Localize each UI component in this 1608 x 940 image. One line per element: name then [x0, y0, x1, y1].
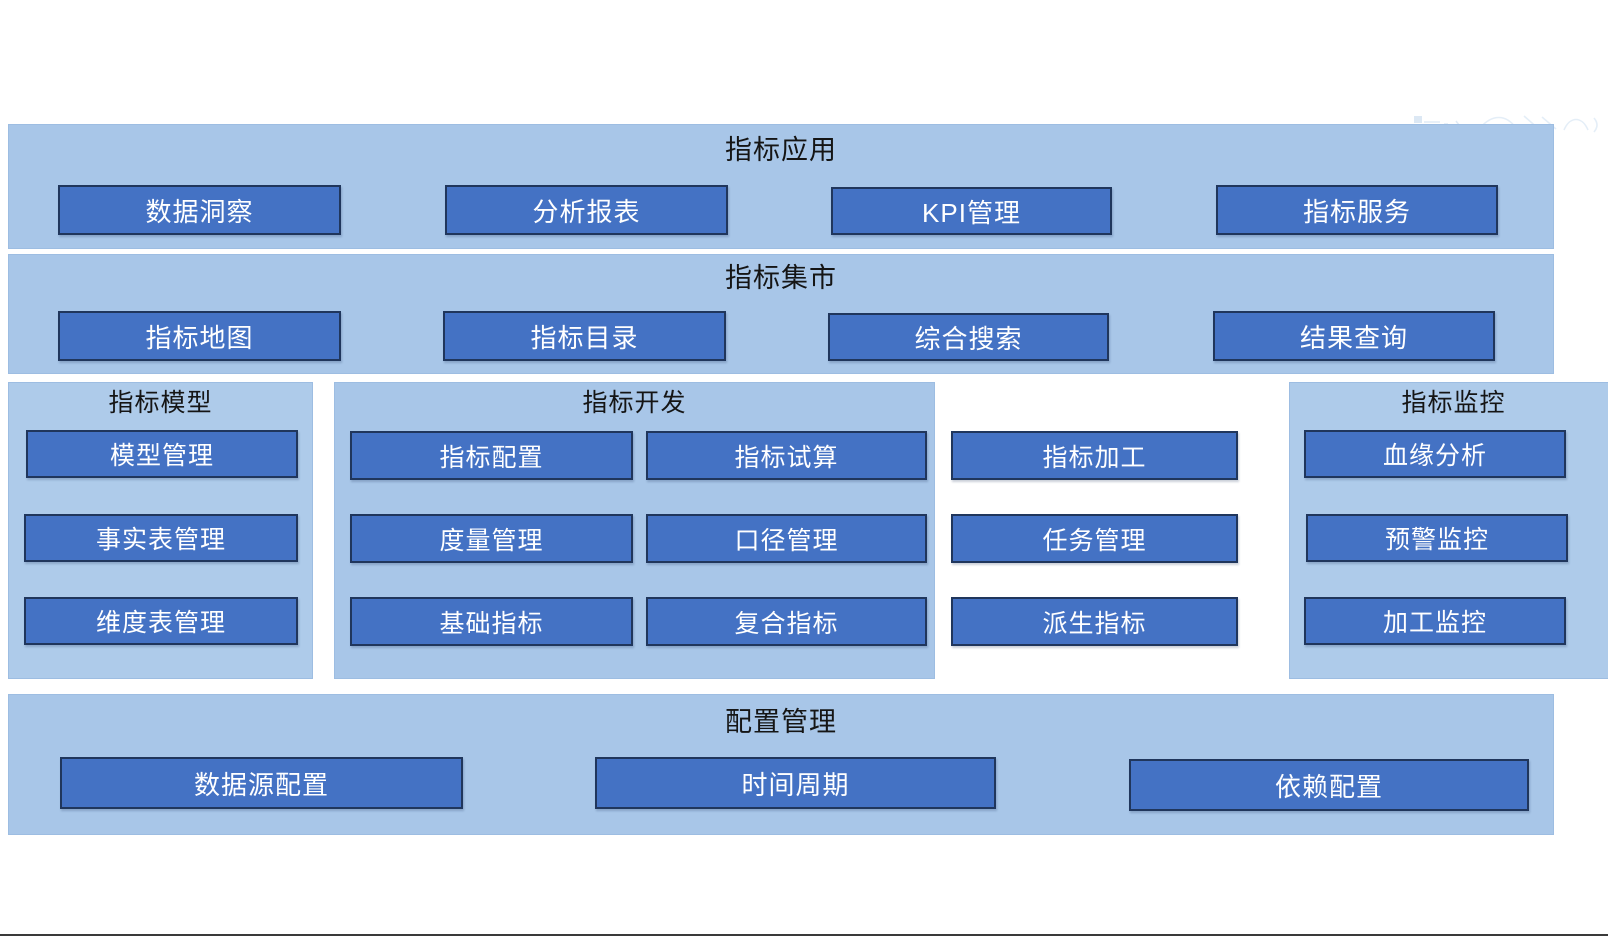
- column-development-title: 指标开发: [335, 391, 934, 416]
- box-metric-service[interactable]: 指标服务: [1216, 185, 1498, 235]
- box-metric-map[interactable]: 指标地图: [58, 311, 341, 361]
- box-dimension-table-management[interactable]: 维度表管理: [24, 597, 298, 645]
- box-metric-processing[interactable]: 指标加工: [951, 431, 1238, 480]
- layer-configuration-title: 配置管理: [9, 709, 1553, 736]
- box-model-management[interactable]: 模型管理: [26, 430, 298, 478]
- architecture-diagram-canvas: 指标应用 数据洞察 分析报表 KPI管理 指标服务 指标集市 指标地图 指标目录…: [0, 0, 1608, 940]
- box-task-management[interactable]: 任务管理: [951, 514, 1238, 563]
- layer-configuration: 配置管理 数据源配置 时间周期 依赖配置: [8, 694, 1554, 835]
- box-metric-catalog[interactable]: 指标目录: [443, 311, 726, 361]
- box-derived-metric[interactable]: 派生指标: [951, 597, 1238, 646]
- box-composite-metric[interactable]: 复合指标: [646, 597, 927, 646]
- layer-application: 指标应用 数据洞察 分析报表 KPI管理 指标服务: [8, 124, 1554, 249]
- column-development: 指标开发 指标配置 指标试算 指标加工 度量管理 口径管理 任务管理 基础指标 …: [334, 382, 935, 679]
- column-model-title: 指标模型: [9, 391, 312, 416]
- box-metric-trial[interactable]: 指标试算: [646, 431, 927, 480]
- layer-mart: 指标集市 指标地图 指标目录 综合搜索 结果查询: [8, 254, 1554, 374]
- box-measure-management[interactable]: 度量管理: [350, 514, 633, 563]
- box-alert-monitoring[interactable]: 预警监控: [1306, 514, 1568, 562]
- box-kpi-management[interactable]: KPI管理: [831, 187, 1112, 235]
- box-processing-monitoring[interactable]: 加工监控: [1304, 597, 1566, 645]
- box-basic-metric[interactable]: 基础指标: [350, 597, 633, 646]
- box-analysis-report[interactable]: 分析报表: [445, 185, 728, 235]
- box-data-insight[interactable]: 数据洞察: [58, 185, 341, 235]
- column-model: 指标模型 模型管理 事实表管理 维度表管理: [8, 382, 313, 679]
- box-dependency-config[interactable]: 依赖配置: [1129, 759, 1529, 811]
- box-lineage-analysis[interactable]: 血缘分析: [1304, 430, 1566, 478]
- layer-application-title: 指标应用: [9, 137, 1553, 164]
- box-time-period[interactable]: 时间周期: [595, 757, 996, 809]
- page-bottom-rule: [0, 934, 1608, 936]
- box-fact-table-management[interactable]: 事实表管理: [24, 514, 298, 562]
- column-monitoring-title: 指标监控: [1290, 391, 1608, 416]
- box-result-query[interactable]: 结果查询: [1213, 311, 1495, 361]
- column-monitoring: 指标监控 血缘分析 预警监控 加工监控: [1289, 382, 1608, 679]
- layer-mart-title: 指标集市: [9, 265, 1553, 292]
- box-integrated-search[interactable]: 综合搜索: [828, 313, 1109, 361]
- box-caliber-management[interactable]: 口径管理: [646, 514, 927, 563]
- box-metric-config[interactable]: 指标配置: [350, 431, 633, 480]
- box-datasource-config[interactable]: 数据源配置: [60, 757, 463, 809]
